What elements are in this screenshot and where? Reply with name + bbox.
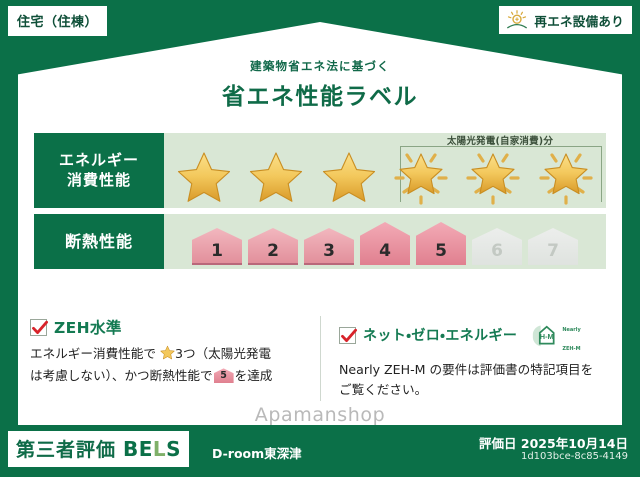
grade-number: 6 <box>491 241 503 265</box>
third-party-eval-label: 第三者評価 <box>16 435 116 462</box>
grade-number: 1 <box>211 241 223 265</box>
inline-star-icon <box>156 348 175 363</box>
label-subtitle: 建築物省エネ法に基づく <box>0 58 640 74</box>
grade-number: 2 <box>267 241 279 265</box>
zeh-standard-header: ZEH水準 <box>30 316 306 338</box>
insulation-grade-4: 4 <box>358 219 412 265</box>
zeh-text-part4: を達成 <box>235 368 273 383</box>
logo-caption-line1: Nearly <box>562 327 580 333</box>
insulation-grade-3: 3 <box>302 225 356 265</box>
logo-caption-line2: ZEH-M <box>562 346 580 352</box>
star-filled-1 <box>171 147 237 207</box>
inline-house-grade-icon: 5 <box>214 368 234 383</box>
watermark: Apamanshop <box>0 404 640 426</box>
zeh-m-logo-caption: Nearly ZEH-M <box>562 316 580 354</box>
label-title: 省エネ性能ラベル <box>0 77 640 111</box>
zeh-standard-title: ZEH水準 <box>54 316 122 338</box>
insulation-grade-2: 2 <box>246 225 300 265</box>
renewable-badge-label: 再エネ設備あり <box>534 11 624 30</box>
star-solar-3 <box>533 147 599 207</box>
zeh-m-logo-text: H-M <box>540 332 554 341</box>
star-filled-3 <box>316 147 382 207</box>
grade-number: 4 <box>379 241 391 265</box>
star-solar-1 <box>388 147 454 207</box>
net-zero-header: ネット・ゼロ・エネルギー H-M Nearly ZEH-M <box>339 316 596 354</box>
insulation-grade-7: 7 <box>526 225 580 265</box>
label-title-block: 建築物省エネ法に基づく 省エネ性能ラベル <box>0 58 640 111</box>
zeh-text-part3: は考慮しない）、かつ断熱性能で <box>30 368 213 383</box>
label-footer: 第三者評価 BELS D-room東深津 評価日 2025年10月14日 1d1… <box>0 425 640 477</box>
bels-wordmark: BELS <box>123 437 181 461</box>
evaluation-date: 評価日 2025年10月14日 <box>479 433 628 452</box>
zeh-text-part2: 3つ（太陽光発電 <box>175 346 271 361</box>
eval-date-label: 評価日 <box>479 436 517 451</box>
grade-number: 5 <box>435 241 447 265</box>
net-zero-energy-section: ネット・ゼロ・エネルギー H-M Nearly ZEH-M Nearly ZEH… <box>320 316 610 401</box>
insulation-grade-1: 1 <box>190 225 244 265</box>
eval-date-value: 2025年10月14日 <box>521 436 628 451</box>
net-zero-text: Nearly ZEH-M の要件は評価書の特記項目をご覧ください。 <box>339 360 596 401</box>
sun-icon <box>505 10 529 30</box>
checkbox-checked-icon <box>339 327 356 344</box>
net-zero-title: ネット・ゼロ・エネルギー <box>363 325 517 345</box>
renewable-equipment-badge: 再エネ設備あり <box>499 6 632 34</box>
insulation-row: 断熱性能 1 2 3 <box>34 214 606 269</box>
energy-consumption-label: エネルギー 消費性能 <box>34 133 164 208</box>
grade-number: 7 <box>547 241 559 265</box>
grade-number: 3 <box>323 241 335 265</box>
energy-rating-body: 太陽光発電(自家消費)分 <box>164 133 606 208</box>
zeh-sections: ZEH水準 エネルギー消費性能で 3つ（太陽光発電 は考慮しない）、かつ断熱性能… <box>30 316 610 401</box>
insulation-grade-scale: 1 2 3 4 5 <box>164 214 606 269</box>
bels-part3: S <box>166 437 181 461</box>
bels-part1: BE <box>123 437 153 461</box>
energy-performance-label: 住宅（住棟） 再エネ設備あり 建築物省エネ法に基づく 省エネ性能ラベル <box>0 0 640 477</box>
bels-logo: 第三者評価 BELS <box>8 431 189 467</box>
performance-rows: エネルギー 消費性能 太陽光発電(自家消費)分 <box>34 133 606 269</box>
zeh-standard-section: ZEH水準 エネルギー消費性能で 3つ（太陽光発電 は考慮しない）、かつ断熱性能… <box>30 316 320 401</box>
zeh-text-part1: エネルギー消費性能で <box>30 346 156 361</box>
energy-label-line1: エネルギー <box>59 151 139 171</box>
energy-consumption-row: エネルギー 消費性能 太陽光発電(自家消費)分 <box>34 133 606 208</box>
insulation-rating-body: 1 2 3 4 5 <box>164 214 606 269</box>
zeh-standard-text: エネルギー消費性能で 3つ（太陽光発電 は考慮しない）、かつ断熱性能で 5 を達… <box>30 344 306 387</box>
energy-label-line2: 消費性能 <box>67 171 131 191</box>
star-filled-2 <box>243 147 309 207</box>
insulation-label: 断熱性能 <box>34 214 164 269</box>
star-rating <box>168 147 602 206</box>
property-name: D-room東深津 <box>212 443 302 462</box>
inline-house-value: 5 <box>214 368 234 383</box>
dwelling-type-tag: 住宅（住棟） <box>8 6 107 36</box>
zeh-m-logo: H-M Nearly ZEH-M <box>530 316 580 354</box>
insulation-grade-6: 6 <box>470 225 524 265</box>
star-solar-2 <box>460 147 526 207</box>
bels-part2: L <box>153 437 166 461</box>
insulation-grade-5: 5 <box>414 219 468 265</box>
checkbox-checked-icon <box>30 319 47 336</box>
evaluation-id: 1d103bce-8c85-4149 <box>521 451 628 462</box>
